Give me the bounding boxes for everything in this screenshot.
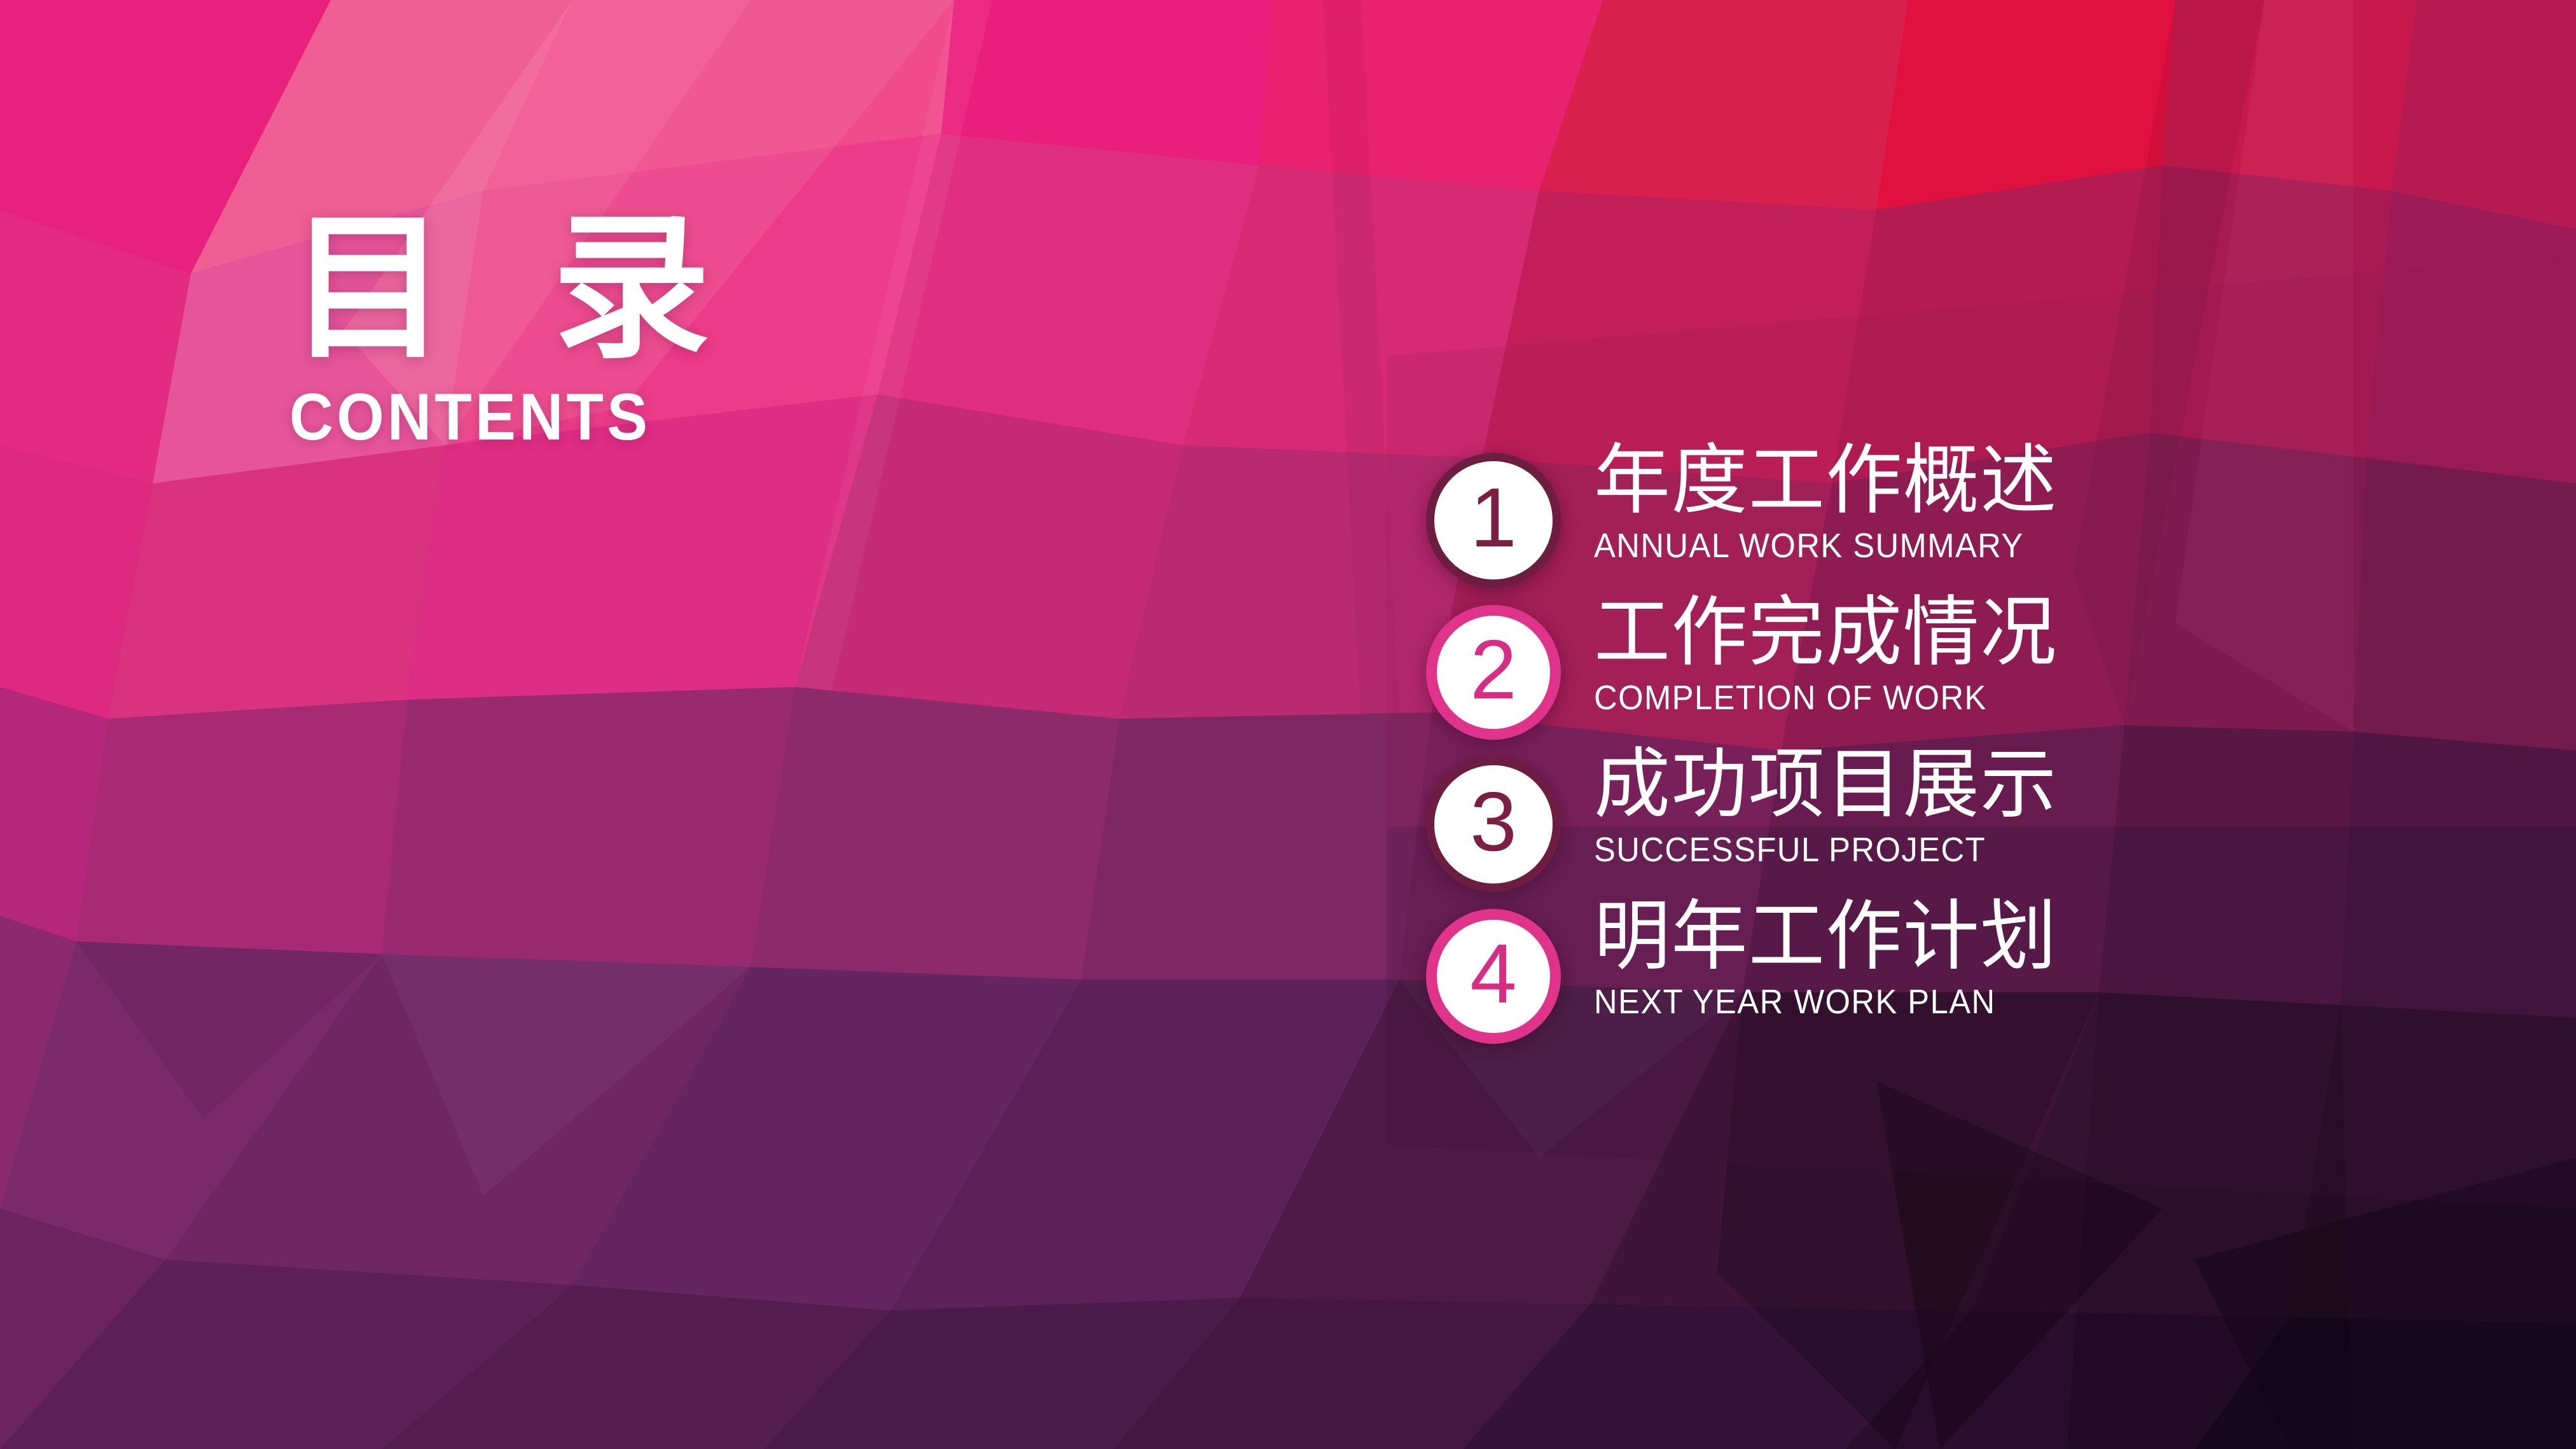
badge-number-3: 3 — [1470, 780, 1516, 864]
agenda-item-3-title-english: SUCCESSFUL PROJECT — [1594, 833, 2030, 867]
agenda-item-1-title-chinese: 年度工作概述 — [1594, 440, 2058, 521]
page-title-english: CONTENTS — [289, 384, 816, 450]
agenda-item-1[interactable]: 1 年度工作概述 ANNUAL WORK SUMMARY — [1426, 439, 2469, 591]
page-title: 目 录 CONTENTS — [289, 210, 862, 450]
number-badge-1: 1 — [1426, 453, 1561, 588]
agenda-item-4-text: 明年工作计划 NEXT YEAR WORK PLAN — [1594, 895, 2058, 1019]
agenda-item-2-title-english: COMPLETION OF WORK — [1594, 681, 2030, 715]
agenda-item-1-title-english: ANNUAL WORK SUMMARY — [1594, 529, 2030, 563]
agenda-item-2-title-chinese: 工作完成情况 — [1594, 592, 2058, 673]
agenda-item-4-title-english: NEXT YEAR WORK PLAN — [1594, 985, 2030, 1019]
badge-number-1: 1 — [1470, 476, 1516, 560]
agenda-item-4[interactable]: 4 明年工作计划 NEXT YEAR WORK PLAN — [1426, 895, 2469, 1047]
agenda-item-3-text: 成功项目展示 SUCCESSFUL PROJECT — [1594, 743, 2058, 867]
agenda-item-1-text: 年度工作概述 ANNUAL WORK SUMMARY — [1594, 439, 2058, 563]
agenda-item-4-title-chinese: 明年工作计划 — [1594, 896, 2058, 977]
contents-slide: 目 录 CONTENTS 1 年度工作概述 ANNUAL WORK SUMMAR… — [0, 0, 2576, 1449]
number-badge-4: 4 — [1426, 909, 1561, 1044]
page-title-chinese: 目 录 — [289, 210, 862, 368]
agenda-item-3-title-chinese: 成功项目展示 — [1594, 744, 2058, 825]
agenda-item-3[interactable]: 3 成功项目展示 SUCCESSFUL PROJECT — [1426, 743, 2469, 895]
number-badge-3: 3 — [1426, 757, 1561, 892]
number-badge-2: 2 — [1426, 605, 1561, 740]
badge-number-2: 2 — [1470, 628, 1516, 712]
badge-number-4: 4 — [1470, 932, 1516, 1016]
agenda-item-2-text: 工作完成情况 COMPLETION OF WORK — [1594, 591, 2058, 715]
agenda-item-2[interactable]: 2 工作完成情况 COMPLETION OF WORK — [1426, 591, 2469, 743]
agenda-list: 1 年度工作概述 ANNUAL WORK SUMMARY 2 工作完成情况 CO… — [1426, 439, 2469, 1047]
